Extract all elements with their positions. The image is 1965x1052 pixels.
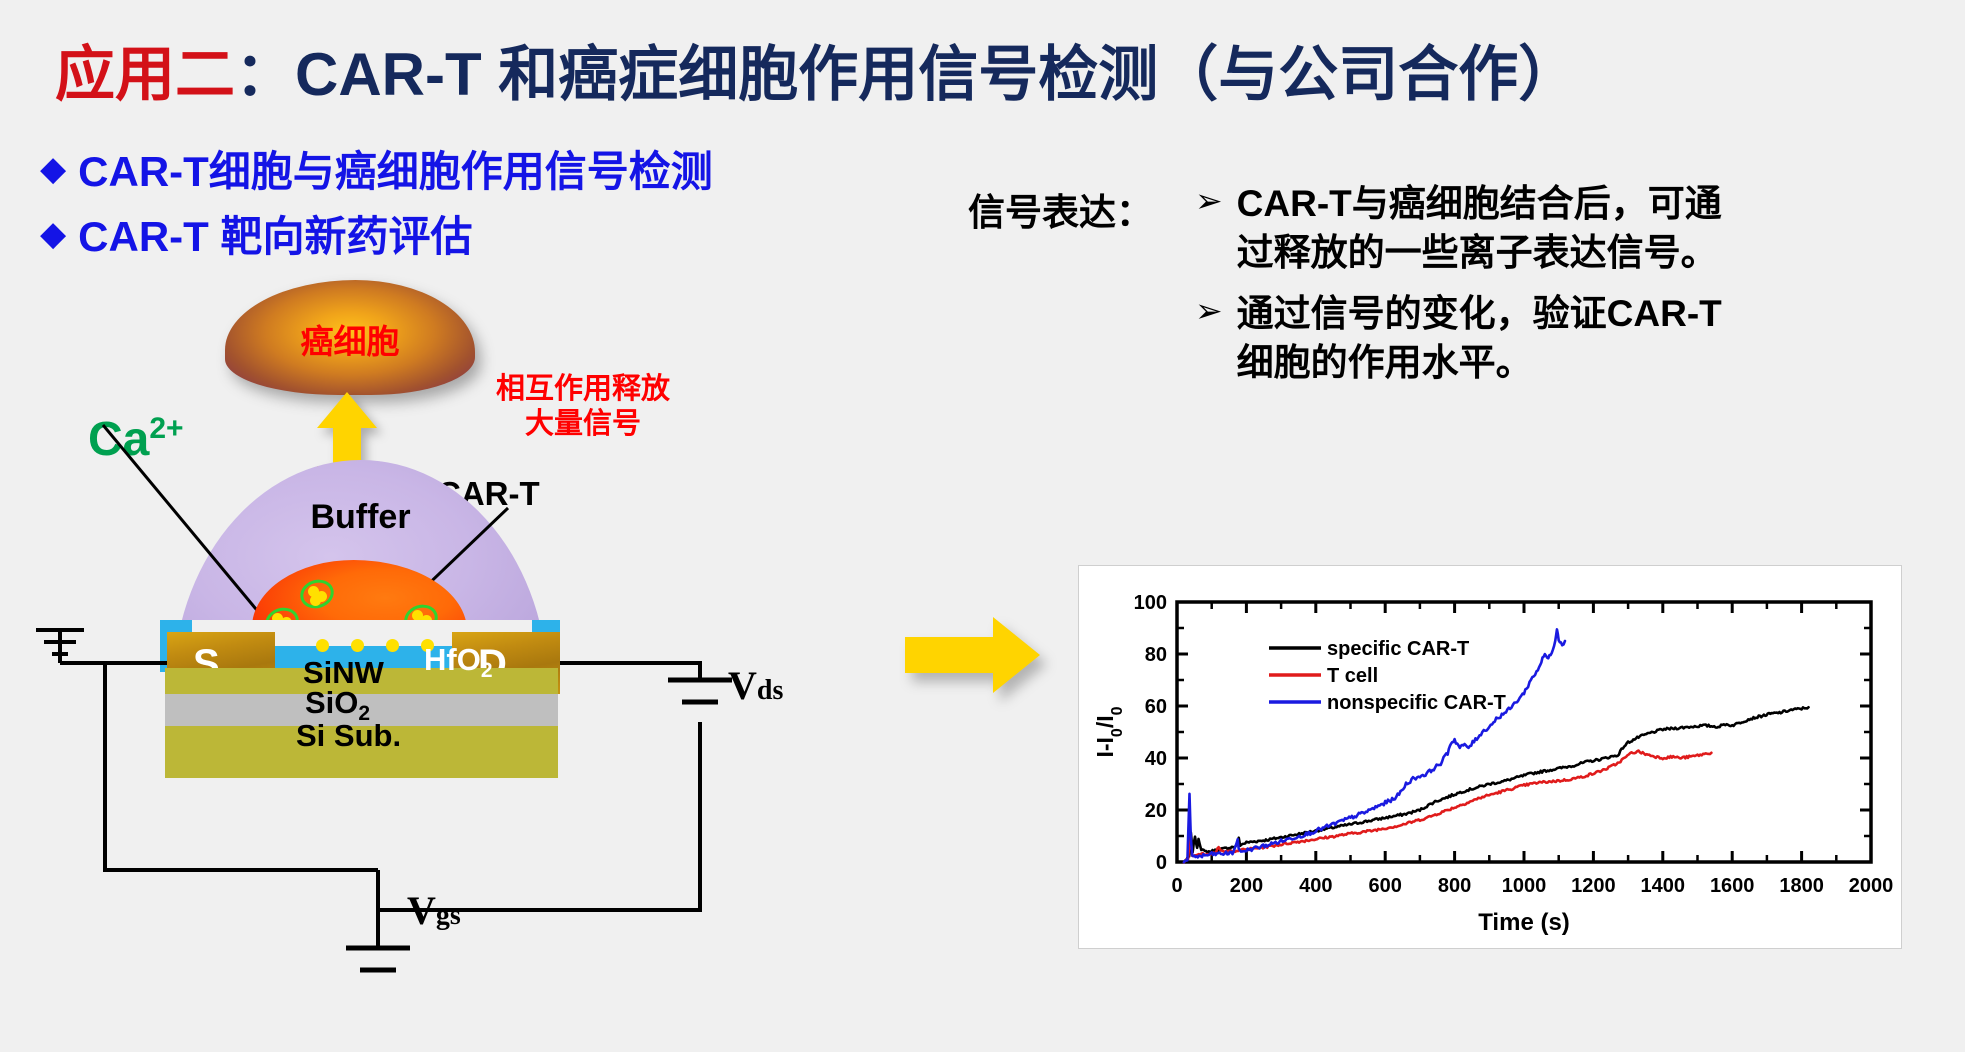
left-bullet-2: ◆ CAR-T 靶向新药评估: [40, 203, 472, 264]
vds-label: Vds: [728, 662, 783, 709]
right-bullet-1-line2: 过释放的一些离子表达信号。: [1237, 229, 1722, 278]
svg-text:T cell: T cell: [1327, 665, 1378, 687]
right-bullet-2: ➢ 通过信号的变化，验证CAR-T 细胞的作用水平。: [1195, 290, 1722, 388]
svg-text:80: 80: [1145, 644, 1167, 666]
svg-text:I-I0/I0: I-I0/I0: [1092, 706, 1126, 757]
svg-text:1200: 1200: [1571, 875, 1616, 897]
svg-text:1800: 1800: [1779, 875, 1824, 897]
diamond-bullet-icon: ◆: [40, 217, 66, 251]
svg-text:Time (s): Time (s): [1478, 909, 1570, 936]
right-bullet-1-line1: CAR-T与癌细胞结合后，可通: [1237, 180, 1722, 229]
svg-text:400: 400: [1299, 875, 1332, 897]
svg-text:2000: 2000: [1849, 875, 1894, 897]
svg-text:nonspecific CAR-T: nonspecific CAR-T: [1327, 692, 1506, 714]
page-title: 应用二：CAR-T 和癌症细胞作用信号检测（与公司合作）: [55, 26, 1578, 113]
device-schematic: 癌细胞 Ca2+ 相互作用释放 大量信号 CAR-T Buffer: [0, 270, 880, 1030]
svg-text:800: 800: [1438, 875, 1471, 897]
signal-expression-label: 信号表达：: [968, 182, 1153, 236]
title-prefix: 应用二: [55, 41, 235, 108]
svg-text:60: 60: [1145, 696, 1167, 718]
svg-text:1000: 1000: [1502, 875, 1547, 897]
left-bullet-2-text: CAR-T 靶向新药评估: [78, 203, 472, 264]
svg-text:20: 20: [1145, 800, 1167, 822]
svg-text:600: 600: [1369, 875, 1402, 897]
right-bullet-1: ➢ CAR-T与癌细胞结合后，可通 过释放的一些离子表达信号。: [1195, 180, 1722, 278]
svg-text:0: 0: [1156, 852, 1167, 874]
vgs-label: Vgs: [407, 887, 461, 934]
svg-text:specific CAR-T: specific CAR-T: [1327, 638, 1469, 660]
svg-text:40: 40: [1145, 748, 1167, 770]
svg-text:0: 0: [1171, 875, 1182, 897]
svg-text:100: 100: [1134, 592, 1167, 614]
right-bullet-2-line2: 细胞的作用水平。: [1237, 339, 1722, 388]
left-bullet-1-text: CAR-T细胞与癌细胞作用信号检测: [78, 138, 713, 199]
svg-text:200: 200: [1230, 875, 1263, 897]
title-rest: ：CAR-T 和癌症细胞作用信号检测（与公司合作）: [235, 41, 1578, 108]
slide-root: 应用二：CAR-T 和癌症细胞作用信号检测（与公司合作） ◆ CAR-T细胞与癌…: [0, 0, 1965, 1052]
svg-text:1400: 1400: [1641, 875, 1686, 897]
svg-text:1600: 1600: [1710, 875, 1755, 897]
arrow-bullet-icon: ➢: [1195, 290, 1223, 331]
left-bullet-1: ◆ CAR-T细胞与癌细胞作用信号检测: [40, 138, 713, 199]
measurement-chart: 0200400600800100012001400160018002000020…: [1078, 565, 1902, 949]
right-bullet-2-line1: 通过信号的变化，验证CAR-T: [1237, 290, 1722, 339]
flow-arrow-icon: [905, 615, 1040, 695]
chart-svg: 0200400600800100012001400160018002000020…: [1079, 566, 1901, 948]
diamond-bullet-icon: ◆: [40, 152, 66, 186]
arrow-bullet-icon: ➢: [1195, 180, 1223, 221]
